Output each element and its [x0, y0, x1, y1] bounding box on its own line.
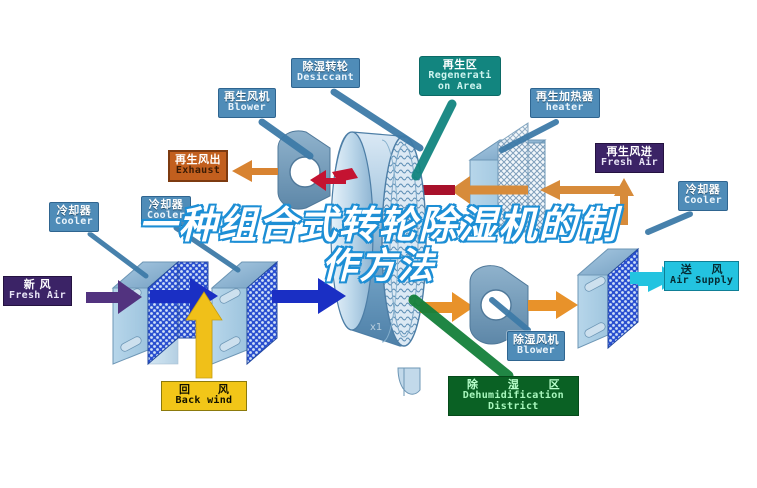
label-desiccant-wheel[interactable]: 除湿转轮 Desiccant	[291, 58, 360, 88]
label-cooler-right-en: Cooler	[684, 196, 722, 207]
label-exhaust-en: Exhaust	[175, 166, 221, 177]
label-regen-fresh-air-en: Fresh Air	[601, 158, 658, 169]
regen-heater-unit	[470, 123, 545, 232]
label-air-supply[interactable]: 送 风 Air Supply	[664, 261, 739, 291]
label-desiccant-wheel-en: Desiccant	[297, 73, 354, 84]
label-cooler-left-1-en: Cooler	[55, 217, 93, 228]
label-exhaust[interactable]: 再生风出 Exhaust	[168, 150, 228, 182]
label-cooler-left-1[interactable]: 冷却器 Cooler	[49, 202, 99, 232]
label-dehumidification-district[interactable]: 除 湿 区 Dehumidification District	[448, 376, 579, 416]
cooler-unit-2	[212, 262, 277, 364]
exhaust-arrow	[232, 160, 278, 182]
diagram-canvas: x1	[0, 0, 757, 488]
label-fresh-air-in[interactable]: 新 风 Fresh Air	[3, 276, 72, 306]
label-cooler-left-2-en: Cooler	[147, 211, 185, 222]
label-cooler-left-2[interactable]: 冷却器 Cooler	[141, 196, 191, 226]
dehum-arrow-2	[528, 291, 578, 319]
label-dehumid-blower-en: Blower	[513, 346, 559, 357]
dehumidifier-schematic-svg: x1	[0, 0, 757, 488]
label-regen-blower[interactable]: 再生风机 Blower	[218, 88, 276, 118]
label-fresh-air-in-en: Fresh Air	[9, 291, 66, 302]
label-cooler-right[interactable]: 冷却器 Cooler	[678, 181, 728, 211]
label-air-supply-en: Air Supply	[670, 276, 733, 287]
label-dehumidification-district-en2: District	[454, 402, 573, 413]
svg-text:x1: x1	[370, 322, 382, 333]
label-regen-heater-en: heater	[536, 103, 594, 114]
label-regen-heater[interactable]: 再生加热器 heater	[530, 88, 600, 118]
label-back-wind-en: Back wind	[167, 396, 241, 407]
label-regeneration-area-en2: on Area	[425, 82, 495, 93]
label-regeneration-area[interactable]: 再生区 Regenerati on Area	[419, 56, 501, 96]
label-back-wind[interactable]: 回 风 Back wind	[161, 381, 247, 411]
label-dehumid-blower[interactable]: 除湿风机 Blower	[507, 331, 565, 361]
label-regen-fresh-air[interactable]: 再生风进 Fresh Air	[595, 143, 664, 173]
supply-cooler-unit	[578, 249, 638, 348]
label-regen-blower-en: Blower	[224, 103, 270, 114]
